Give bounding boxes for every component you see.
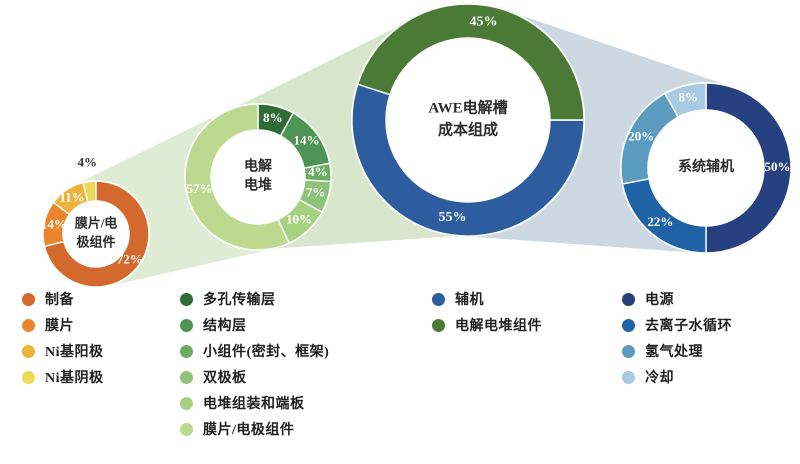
chart-legend: 制备膜片Ni基阳极Ni基阴极多孔传输层结构层小组件(密封、框架)双极板电堆组装和… <box>0 286 800 464</box>
legend-label: 结构层 <box>203 315 247 335</box>
donut-center-label-system-auxiliary-0: 系统辅机 <box>678 158 734 175</box>
slice-value-membrane-electrode-assembly-2: 11% <box>59 189 84 204</box>
slice-value-awe-electrolyzer-cost-1: 45% <box>469 14 497 29</box>
slice-value-electrolysis-stack-3: 7% <box>306 185 326 200</box>
legend-swatch-icon <box>622 371 635 384</box>
donut-center-label-membrane-electrode-assembly-0: 膜片/电 <box>75 215 118 230</box>
legend-item[interactable]: Ni基阴极 <box>22 364 104 390</box>
legend-item[interactable]: 制备 <box>22 286 104 312</box>
slice-value-electrolysis-stack-0: 8% <box>263 110 283 125</box>
legend-item[interactable]: 电解电堆组件 <box>432 312 542 338</box>
legend-item[interactable]: 膜片/电极组件 <box>180 416 329 442</box>
legend-swatch-icon <box>180 319 193 332</box>
donut-center-label-electrolysis-stack-0: 电解 <box>244 158 272 175</box>
legend-swatch-icon <box>22 371 35 384</box>
donut-center-label-awe-electrolyzer-cost-1: 成本组成 <box>438 120 498 138</box>
slice-value-electrolysis-stack-5: 57% <box>186 181 212 196</box>
legend-column-aux: 电源去离子水循环氢气处理冷却 <box>622 286 732 390</box>
donut-hole-awe-electrolyzer-cost <box>386 38 550 202</box>
slice-value-membrane-electrode-assembly-3: 4% <box>77 155 97 170</box>
legend-swatch-icon <box>432 319 445 332</box>
slice-value-electrolysis-stack-4: 10% <box>286 212 312 227</box>
slice-value-awe-electrolyzer-cost-0: 55% <box>439 210 467 225</box>
legend-label: 电源 <box>645 289 674 309</box>
legend-item[interactable]: 膜片 <box>22 312 104 338</box>
legend-label: 制备 <box>45 289 74 309</box>
legend-swatch-icon <box>180 345 193 358</box>
slice-value-system-auxiliary-3: 8% <box>678 90 698 105</box>
legend-item[interactable]: 结构层 <box>180 312 329 338</box>
slice-value-system-auxiliary-0: 50% <box>765 159 791 174</box>
slice-value-membrane-electrode-assembly-0: 72% <box>117 252 143 267</box>
slice-value-membrane-electrode-assembly-1: 14% <box>41 216 67 231</box>
legend-swatch-icon <box>22 293 35 306</box>
slice-value-electrolysis-stack-1: 14% <box>294 133 320 148</box>
legend-label: 电解电堆组件 <box>455 315 542 335</box>
legend-item[interactable]: 多孔传输层 <box>180 286 329 312</box>
donut-center-label-electrolysis-stack-1: 电堆 <box>244 177 272 194</box>
legend-label: Ni基阳极 <box>45 341 104 361</box>
donut-center-label-awe-electrolyzer-cost-0: AWE电解槽 <box>428 98 507 116</box>
slice-value-electrolysis-stack-2: 4% <box>308 164 328 179</box>
slice-value-system-auxiliary-2: 20% <box>628 129 654 144</box>
legend-label: 膜片 <box>45 315 74 335</box>
legend-item[interactable]: 去离子水循环 <box>622 312 732 338</box>
legend-item[interactable]: Ni基阳极 <box>22 338 104 364</box>
legend-label: 辅机 <box>455 289 484 309</box>
donut-center-label-membrane-electrode-assembly-1: 极组件 <box>76 234 115 249</box>
legend-label: 小组件(密封、框架) <box>203 341 329 361</box>
legend-label: 膜片/电极组件 <box>203 419 294 439</box>
legend-item[interactable]: 冷却 <box>622 364 732 390</box>
figure-canvas: 制备 72%膜片 14%Ni基阳极 11%Ni基阴极 4%72%14%11%4%… <box>0 0 800 464</box>
legend-item[interactable]: 辅机 <box>432 286 542 312</box>
legend-column-stack: 多孔传输层结构层小组件(密封、框架)双极板电堆组装和端板膜片/电极组件 <box>180 286 329 442</box>
legend-swatch-icon <box>180 423 193 436</box>
legend-label: 电堆组装和端板 <box>203 393 305 413</box>
legend-swatch-icon <box>622 319 635 332</box>
legend-label: 多孔传输层 <box>203 289 276 309</box>
legend-swatch-icon <box>180 397 193 410</box>
legend-swatch-icon <box>22 319 35 332</box>
legend-item[interactable]: 小组件(密封、框架) <box>180 338 329 364</box>
legend-swatch-icon <box>622 293 635 306</box>
legend-swatch-icon <box>180 371 193 384</box>
legend-swatch-icon <box>622 345 635 358</box>
legend-label: 冷却 <box>645 367 674 387</box>
legend-label: 双极板 <box>203 367 247 387</box>
slice-value-system-auxiliary-1: 22% <box>647 214 673 229</box>
legend-swatch-icon <box>22 345 35 358</box>
legend-swatch-icon <box>432 293 445 306</box>
legend-label: Ni基阴极 <box>45 367 104 387</box>
legend-item[interactable]: 电堆组装和端板 <box>180 390 329 416</box>
legend-item[interactable]: 双极板 <box>180 364 329 390</box>
legend-column-mea: 制备膜片Ni基阳极Ni基阴极 <box>22 286 104 390</box>
legend-label: 去离子水循环 <box>645 315 732 335</box>
legend-swatch-icon <box>180 293 193 306</box>
legend-item[interactable]: 电源 <box>622 286 732 312</box>
legend-item[interactable]: 氢气处理 <box>622 338 732 364</box>
legend-column-main: 辅机电解电堆组件 <box>432 286 542 338</box>
legend-label: 氢气处理 <box>645 341 703 361</box>
